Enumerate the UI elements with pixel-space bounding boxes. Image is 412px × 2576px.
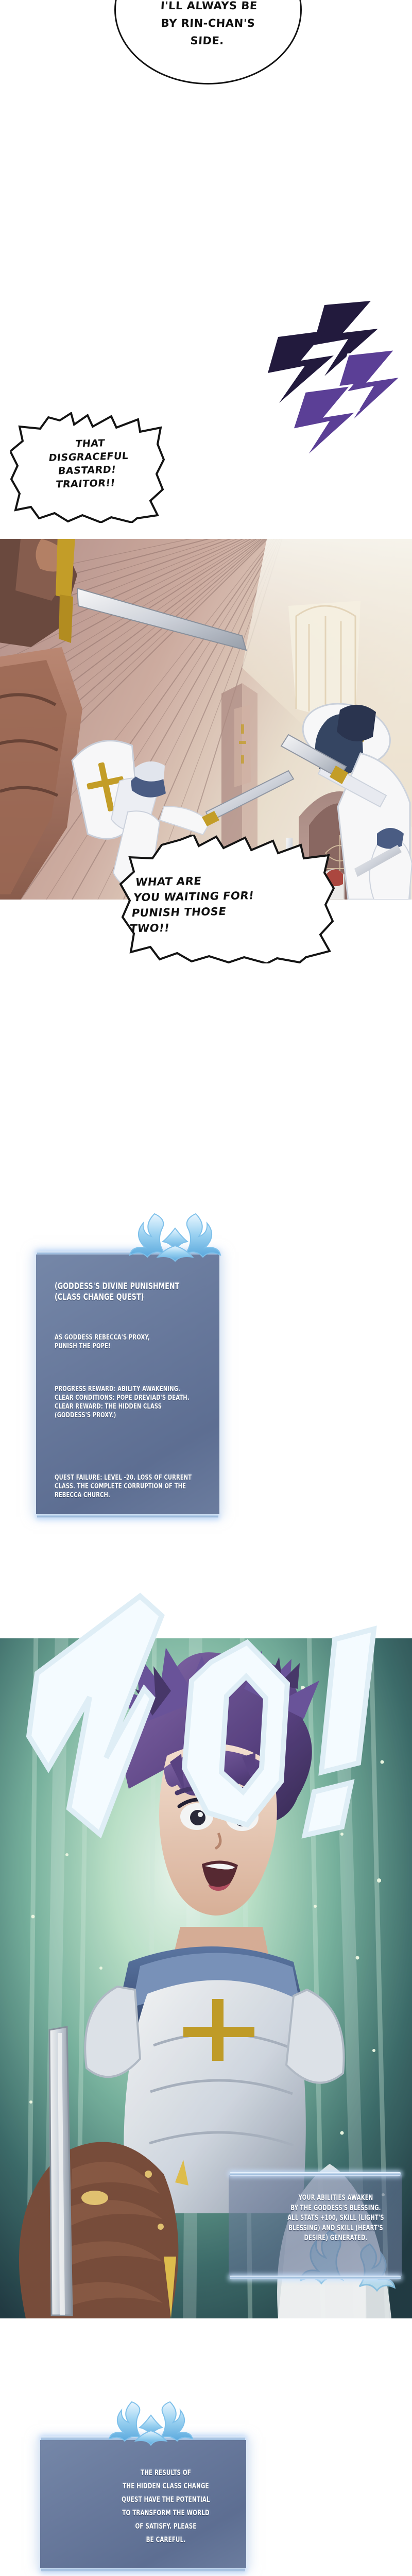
slash-effect-purple: [247, 299, 402, 469]
awaken-window-bottom-bar: [230, 2276, 401, 2279]
awaken-window-text-wrap: YOUR ABILITIES AWAKEN BY THE GODDESS'S B…: [253, 2183, 412, 2253]
shout-bubble-punish-text: WHAT ARE YOU WAITING FOR! PUNISH THOSE T…: [129, 871, 329, 936]
result-window-bottom-bar: [41, 2567, 245, 2572]
webtoon-page: I'LL ALWAYS BE BY RIN-CHAN'S SIDE.: [0, 0, 412, 2576]
awaken-window-top-bar: [230, 2172, 401, 2176]
system-window-bottom-bar: [37, 1514, 218, 1518]
quest-window-objective: AS GODDESS REBECCA'S PROXY, PUNISH THE P…: [55, 1333, 236, 1351]
quest-window-title: (GODDESS'S DIVINE PUNISHMENT (CLASS CHAN…: [55, 1281, 232, 1303]
awaken-window-body: YOUR ABILITIES AWAKEN BY THE GODDESS'S B…: [253, 2193, 412, 2244]
result-window-text-wrap: THE RESULTS OF THE HIDDEN CLASS CHANGE Q…: [64, 2456, 267, 2556]
speech-bubble-oval-text: I'LL ALWAYS BE BY RIN-CHAN'S SIDE.: [118, 0, 298, 49]
result-window-body: THE RESULTS OF THE HIDDEN CLASS CHANGE Q…: [64, 2466, 267, 2547]
shout-bubble-traitor-text: THAT DISGRACEFUL BASTARD! TRAITOR!!: [16, 435, 160, 493]
quest-window-rewards: PROGRESS REWARD: ABILITY AWAKENING. CLEA…: [55, 1385, 236, 1420]
quest-window-failure: QUEST FAILURE: LEVEL -20. LOSS OF CURREN…: [55, 1473, 236, 1500]
